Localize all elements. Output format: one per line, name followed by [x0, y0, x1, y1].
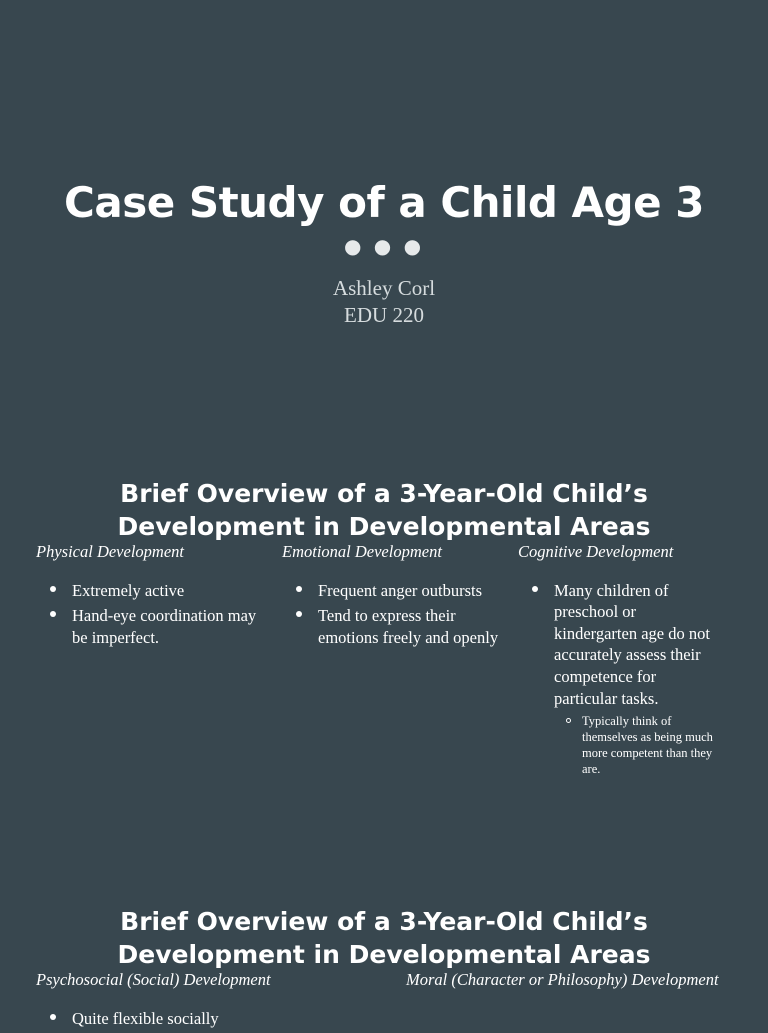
- column-emotional-development: Emotional Development Frequent anger out…: [282, 542, 518, 652]
- column-physical-development: Physical Development Extremely active Ha…: [36, 542, 282, 652]
- column-heading: Physical Development: [36, 542, 268, 563]
- list-item-text: Tend to express their emotions freely an…: [318, 606, 498, 647]
- course-code: EDU 220: [0, 302, 768, 329]
- bullet-dot-icon: [50, 1014, 56, 1020]
- list-item-text: Quite flexible socially: [72, 1009, 219, 1028]
- column-heading: Emotional Development: [282, 542, 504, 563]
- sub-list-item: Typically think of themselves as being m…: [582, 713, 722, 777]
- sub-bullet-list: Typically think of themselves as being m…: [554, 713, 722, 777]
- list-item-text: Hand-eye coordination may be imperfect.: [72, 606, 256, 647]
- columns-container: Physical Development Extremely active Ha…: [36, 542, 736, 781]
- slide-overview-2: Brief Overview of a 3-Year-Old Child’s D…: [0, 854, 768, 1024]
- bullet-list: Quite flexible socially: [36, 1008, 392, 1030]
- list-item-text: Many children of preschool or kindergart…: [554, 581, 710, 708]
- list-item: Quite flexible socially: [72, 1008, 392, 1030]
- bullet-dot-icon: [50, 611, 56, 617]
- list-item: Many children of preschool or kindergart…: [554, 580, 722, 778]
- document-page: Case Study of a Child Age 3 ● ● ● Ashley…: [0, 0, 768, 1024]
- page-title: Case Study of a Child Age 3: [0, 180, 768, 226]
- author-name: Ashley Corl: [0, 275, 768, 302]
- slide-heading: Brief Overview of a 3-Year-Old Child’s D…: [56, 905, 712, 971]
- divider-dots: ● ● ●: [0, 234, 768, 258]
- list-item: Extremely active: [72, 580, 268, 602]
- slide-overview-1: Brief Overview of a 3-Year-Old Child’s D…: [0, 424, 768, 854]
- bullet-circle-icon: [566, 718, 571, 723]
- sub-list-item-text: Typically think of themselves as being m…: [582, 714, 713, 776]
- list-item: Hand-eye coordination may be imperfect.: [72, 605, 268, 648]
- bullet-dot-icon: [296, 611, 302, 617]
- slide-title: Case Study of a Child Age 3 ● ● ● Ashley…: [0, 0, 768, 424]
- list-item-text: Frequent anger outbursts: [318, 581, 482, 600]
- column-heading: Cognitive Development: [518, 542, 722, 563]
- column-heading: Psychosocial (Social) Development: [36, 970, 392, 991]
- bullet-list: Extremely active Hand-eye coordination m…: [36, 580, 268, 649]
- bullet-dot-icon: [296, 586, 302, 592]
- slide-heading: Brief Overview of a 3-Year-Old Child’s D…: [56, 477, 712, 543]
- bullet-list: Frequent anger outbursts Tend to express…: [282, 580, 504, 649]
- list-item: Tend to express their emotions freely an…: [318, 605, 504, 648]
- bullet-dot-icon: [532, 586, 538, 592]
- title-subtitle: Ashley Corl EDU 220: [0, 275, 768, 330]
- list-item: Frequent anger outbursts: [318, 580, 504, 602]
- column-cognitive-development: Cognitive Development Many children of p…: [518, 542, 736, 781]
- bullet-list: Many children of preschool or kindergart…: [518, 580, 722, 778]
- column-heading: Moral (Character or Philosophy) Developm…: [406, 970, 722, 991]
- list-item-text: Extremely active: [72, 581, 184, 600]
- bullet-dot-icon: [50, 586, 56, 592]
- column-moral-development: Moral (Character or Philosophy) Developm…: [406, 970, 736, 1008]
